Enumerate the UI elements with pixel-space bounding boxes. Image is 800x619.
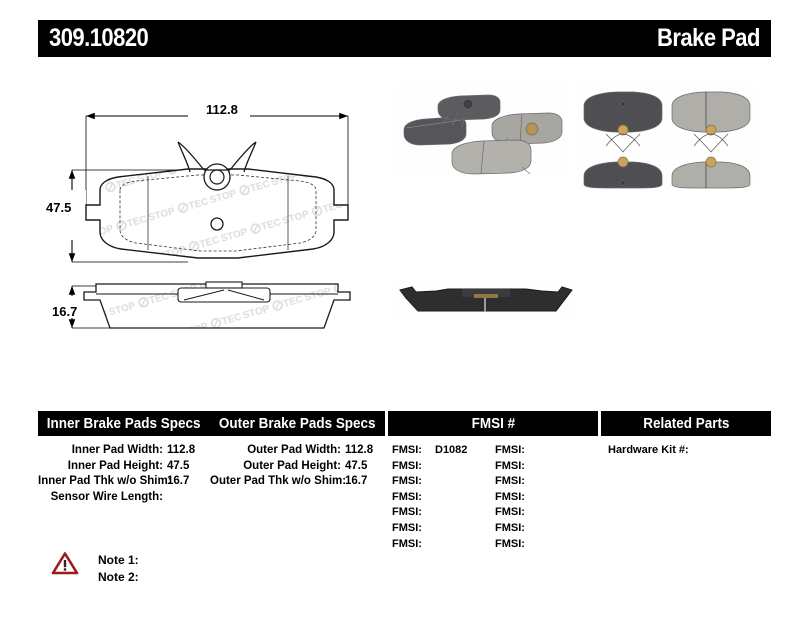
fmsi-value bbox=[430, 537, 435, 553]
fmsi-label: FMSI: bbox=[392, 443, 430, 459]
fmsi-value bbox=[430, 505, 435, 521]
spec-row: Inner Pad Width: 112.8 bbox=[38, 443, 210, 459]
fmsi-value bbox=[533, 505, 538, 521]
spec-label: Outer Pad Width: bbox=[210, 443, 341, 459]
spec-value: 47.5 bbox=[341, 459, 367, 475]
spec-table-body: Inner Pad Width: 112.8 Inner Pad Height:… bbox=[38, 443, 771, 552]
width-dimension-label: 112.8 bbox=[206, 102, 238, 117]
fmsi-value bbox=[533, 443, 538, 459]
fmsi-value bbox=[533, 490, 538, 506]
fmsi-label: FMSI: bbox=[392, 459, 430, 475]
header-outer-specs: Outer Brake Pads Specs bbox=[210, 411, 385, 436]
spec-row: Inner Pad Height: 47.5 bbox=[38, 459, 210, 475]
spec-table: Inner Brake Pads Specs Outer Brake Pads … bbox=[38, 411, 771, 552]
spec-row: Inner Pad Thk w/o Shim: 16.7 bbox=[38, 474, 210, 490]
spec-value: 16.7 bbox=[163, 474, 189, 490]
related-parts-column: Hardware Kit #: bbox=[601, 443, 771, 552]
spec-value: 47.5 bbox=[163, 459, 189, 475]
spec-label: Sensor Wire Length: bbox=[38, 490, 163, 506]
fmsi-row: FMSI: D1082 bbox=[392, 443, 495, 459]
header-inner-specs-label: Inner Brake Pads Specs bbox=[47, 416, 201, 432]
fmsi-row: FMSI: bbox=[392, 537, 495, 553]
fmsi-label: FMSI: bbox=[392, 474, 430, 490]
brake-pads-angled-photo bbox=[396, 82, 566, 177]
header-bar: 309.10820 Brake Pad bbox=[38, 20, 771, 57]
fmsi-row: FMSI: bbox=[495, 505, 538, 521]
fmsi-value bbox=[533, 474, 538, 490]
spec-value: 16.7 bbox=[341, 474, 367, 490]
fmsi-row: FMSI: bbox=[495, 459, 538, 475]
fmsi-subcolumn-right: FMSI: FMSI: FMSI: FMSI: bbox=[495, 443, 538, 552]
spec-table-header-row: Inner Brake Pads Specs Outer Brake Pads … bbox=[38, 411, 771, 436]
header-outer-specs-label: Outer Brake Pads Specs bbox=[219, 416, 376, 432]
fmsi-label: FMSI: bbox=[495, 490, 533, 506]
fmsi-row: FMSI: bbox=[392, 459, 495, 475]
product-type: Brake Pad bbox=[657, 24, 760, 53]
outer-specs-column: Outer Pad Width: 112.8 Outer Pad Height:… bbox=[210, 443, 388, 552]
header-inner-specs: Inner Brake Pads Specs bbox=[38, 411, 210, 436]
inner-specs-column: Inner Pad Width: 112.8 Inner Pad Height:… bbox=[38, 443, 210, 552]
fmsi-label: FMSI: bbox=[495, 521, 533, 537]
technical-drawing: 112.8 47.5 16.7 STOP TECH TECH bbox=[38, 72, 398, 372]
fmsi-value bbox=[533, 521, 538, 537]
spec-label: Outer Pad Thk w/o Shim: bbox=[210, 474, 341, 490]
fmsi-row: FMSI: bbox=[495, 537, 538, 553]
spec-label: Inner Pad Width: bbox=[38, 443, 163, 459]
brake-pads-grid-photo bbox=[576, 84, 756, 188]
part-number: 309.10820 bbox=[49, 24, 148, 53]
note-1: Note 1: bbox=[98, 552, 139, 569]
fmsi-row: FMSI: bbox=[392, 505, 495, 521]
fmsi-label: FMSI: bbox=[392, 537, 430, 553]
spec-label: Outer Pad Height: bbox=[210, 459, 341, 475]
spec-value: 112.8 bbox=[163, 443, 195, 459]
pad-outline-drawing: STOP TECH TECH bbox=[38, 72, 398, 372]
note-2: Note 2: bbox=[98, 569, 139, 586]
fmsi-value bbox=[430, 521, 435, 537]
fmsi-value bbox=[533, 459, 538, 475]
fmsi-row: FMSI: bbox=[495, 490, 538, 506]
fmsi-row: FMSI: bbox=[495, 521, 538, 537]
spec-value: 112.8 bbox=[341, 443, 373, 459]
fmsi-value bbox=[533, 537, 538, 553]
fmsi-label: FMSI: bbox=[392, 505, 430, 521]
fmsi-row: FMSI: bbox=[495, 443, 538, 459]
fmsi-value: D1082 bbox=[430, 443, 467, 459]
fmsi-subcolumn-left: FMSI: D1082 FMSI: FMSI: FMSI: bbox=[392, 443, 495, 552]
fmsi-value bbox=[430, 490, 435, 506]
header-fmsi-label: FMSI # bbox=[471, 416, 514, 432]
spec-row: Outer Pad Height: 47.5 bbox=[210, 459, 388, 475]
spec-row: Outer Pad Width: 112.8 bbox=[210, 443, 388, 459]
header-fmsi: FMSI # bbox=[388, 411, 598, 436]
height-dimension-label: 47.5 bbox=[46, 200, 71, 215]
fmsi-row: FMSI: bbox=[495, 474, 538, 490]
fmsi-label: FMSI: bbox=[392, 521, 430, 537]
related-part-row: Hardware Kit #: bbox=[608, 443, 771, 459]
fmsi-label: FMSI: bbox=[495, 443, 533, 459]
fmsi-row: FMSI: bbox=[392, 474, 495, 490]
fmsi-label: FMSI: bbox=[392, 490, 430, 506]
spec-value bbox=[163, 490, 167, 506]
fmsi-value bbox=[430, 474, 435, 490]
warning-triangle-icon bbox=[52, 552, 78, 575]
brake-pad-side-photo bbox=[396, 278, 576, 322]
fmsi-label: FMSI: bbox=[495, 505, 533, 521]
spec-row: Sensor Wire Length: bbox=[38, 490, 210, 506]
fmsi-value bbox=[430, 459, 435, 475]
notes-section: Note 1: Note 2: bbox=[52, 552, 139, 586]
fmsi-label: FMSI: bbox=[495, 537, 533, 553]
fmsi-column: FMSI: D1082 FMSI: FMSI: FMSI: bbox=[388, 443, 601, 552]
fmsi-row: FMSI: bbox=[392, 490, 495, 506]
header-related-parts: Related Parts bbox=[601, 411, 771, 436]
fmsi-row: FMSI: bbox=[392, 521, 495, 537]
fmsi-label: FMSI: bbox=[495, 474, 533, 490]
spec-row: Outer Pad Thk w/o Shim: 16.7 bbox=[210, 474, 388, 490]
thickness-dimension-label: 16.7 bbox=[52, 304, 77, 319]
fmsi-label: FMSI: bbox=[495, 459, 533, 475]
spec-label: Inner Pad Height: bbox=[38, 459, 163, 475]
header-related-parts-label: Related Parts bbox=[643, 416, 729, 432]
spec-label: Inner Pad Thk w/o Shim: bbox=[38, 474, 163, 490]
